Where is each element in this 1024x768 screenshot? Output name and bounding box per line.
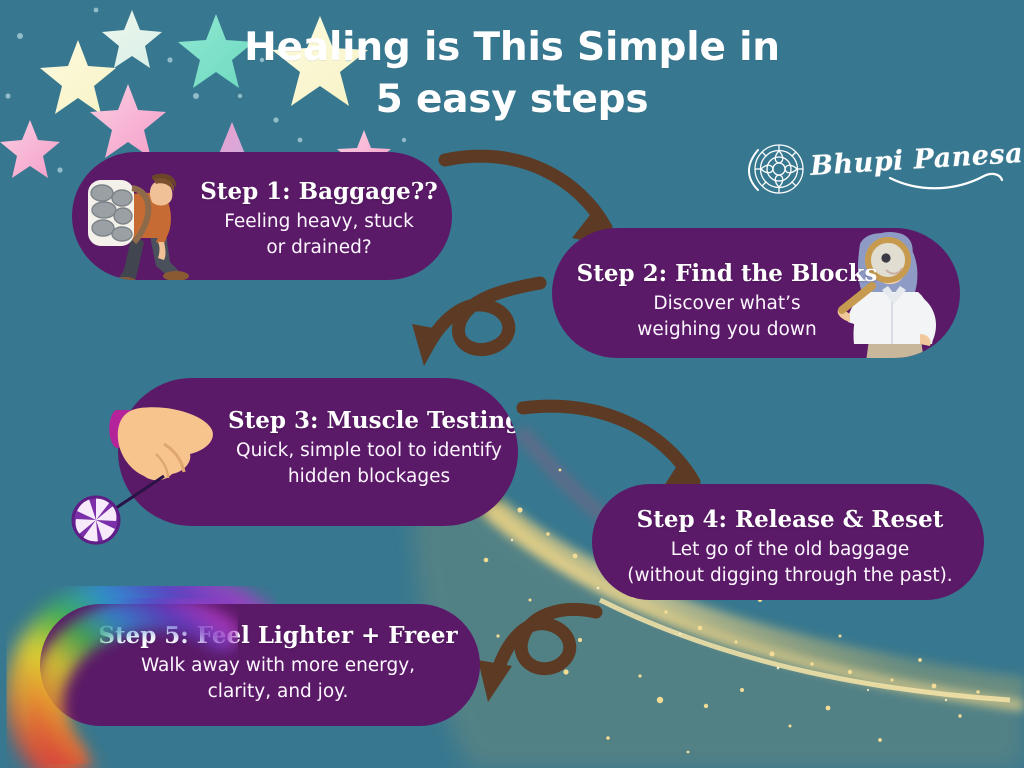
step-2-body: Discover what’s weighing you down [562,291,892,344]
mandala-icon [748,138,810,200]
step-5-body: Walk away with more energy, clarity, and… [88,653,468,706]
infographic-canvas: Step 1: Baggage?? Feeling heavy, stuck o… [0,0,1024,768]
title-line-2: 5 easy steps [0,74,1024,126]
step-5-heading: Step 5: Feel Lighter + Freer [88,622,468,649]
step-1-heading: Step 1: Baggage?? [190,178,448,205]
step-4-card[interactable]: Step 4: Release & Reset Let go of the ol… [592,484,984,600]
step-4-heading: Step 4: Release & Reset [606,506,974,533]
arrow-4-to-5-path [496,610,596,676]
arrow-2-to-3-path [430,283,540,350]
step-4-text: Step 4: Release & Reset Let go of the ol… [606,506,974,590]
arrow-1-to-2-path [445,156,606,228]
step-3-heading: Step 3: Muscle Testing [228,407,510,434]
man-with-rock-backpack-icon [78,152,208,280]
brand-logo[interactable]: Bhupi Panesar [748,136,978,210]
arrow-2-to-3-head [412,324,444,366]
step-1-body: Feeling heavy, stuck or drained? [190,209,448,262]
step-1-text: Step 1: Baggage?? Feeling heavy, stuck o… [190,178,448,262]
step-2-heading: Step 2: Find the Blocks [562,260,892,287]
step-3-body: Quick, simple tool to identify hidden bl… [228,438,510,491]
step-4-body: Let go of the old baggage (without diggi… [606,537,974,590]
page-title: Healing is This Simple in 5 easy steps [0,22,1024,127]
step-2-card[interactable]: Step 2: Find the Blocks Discover what’s … [552,228,960,358]
step-5-card[interactable]: Step 5: Feel Lighter + Freer Walk away w… [40,604,480,726]
hand-holding-pendulum-icon [60,392,260,552]
arrow-3-to-4-path [523,406,694,482]
arrow-4-to-5-head [478,660,512,702]
step-5-text: Step 5: Feel Lighter + Freer Walk away w… [88,622,468,706]
step-1-card[interactable]: Step 1: Baggage?? Feeling heavy, stuck o… [72,152,452,280]
step-3-text: Step 3: Muscle Testing Quick, simple too… [228,407,510,491]
step-2-text: Step 2: Find the Blocks Discover what’s … [562,260,892,344]
title-line-1: Healing is This Simple in [244,25,780,70]
logo-swash-icon [888,168,1008,196]
